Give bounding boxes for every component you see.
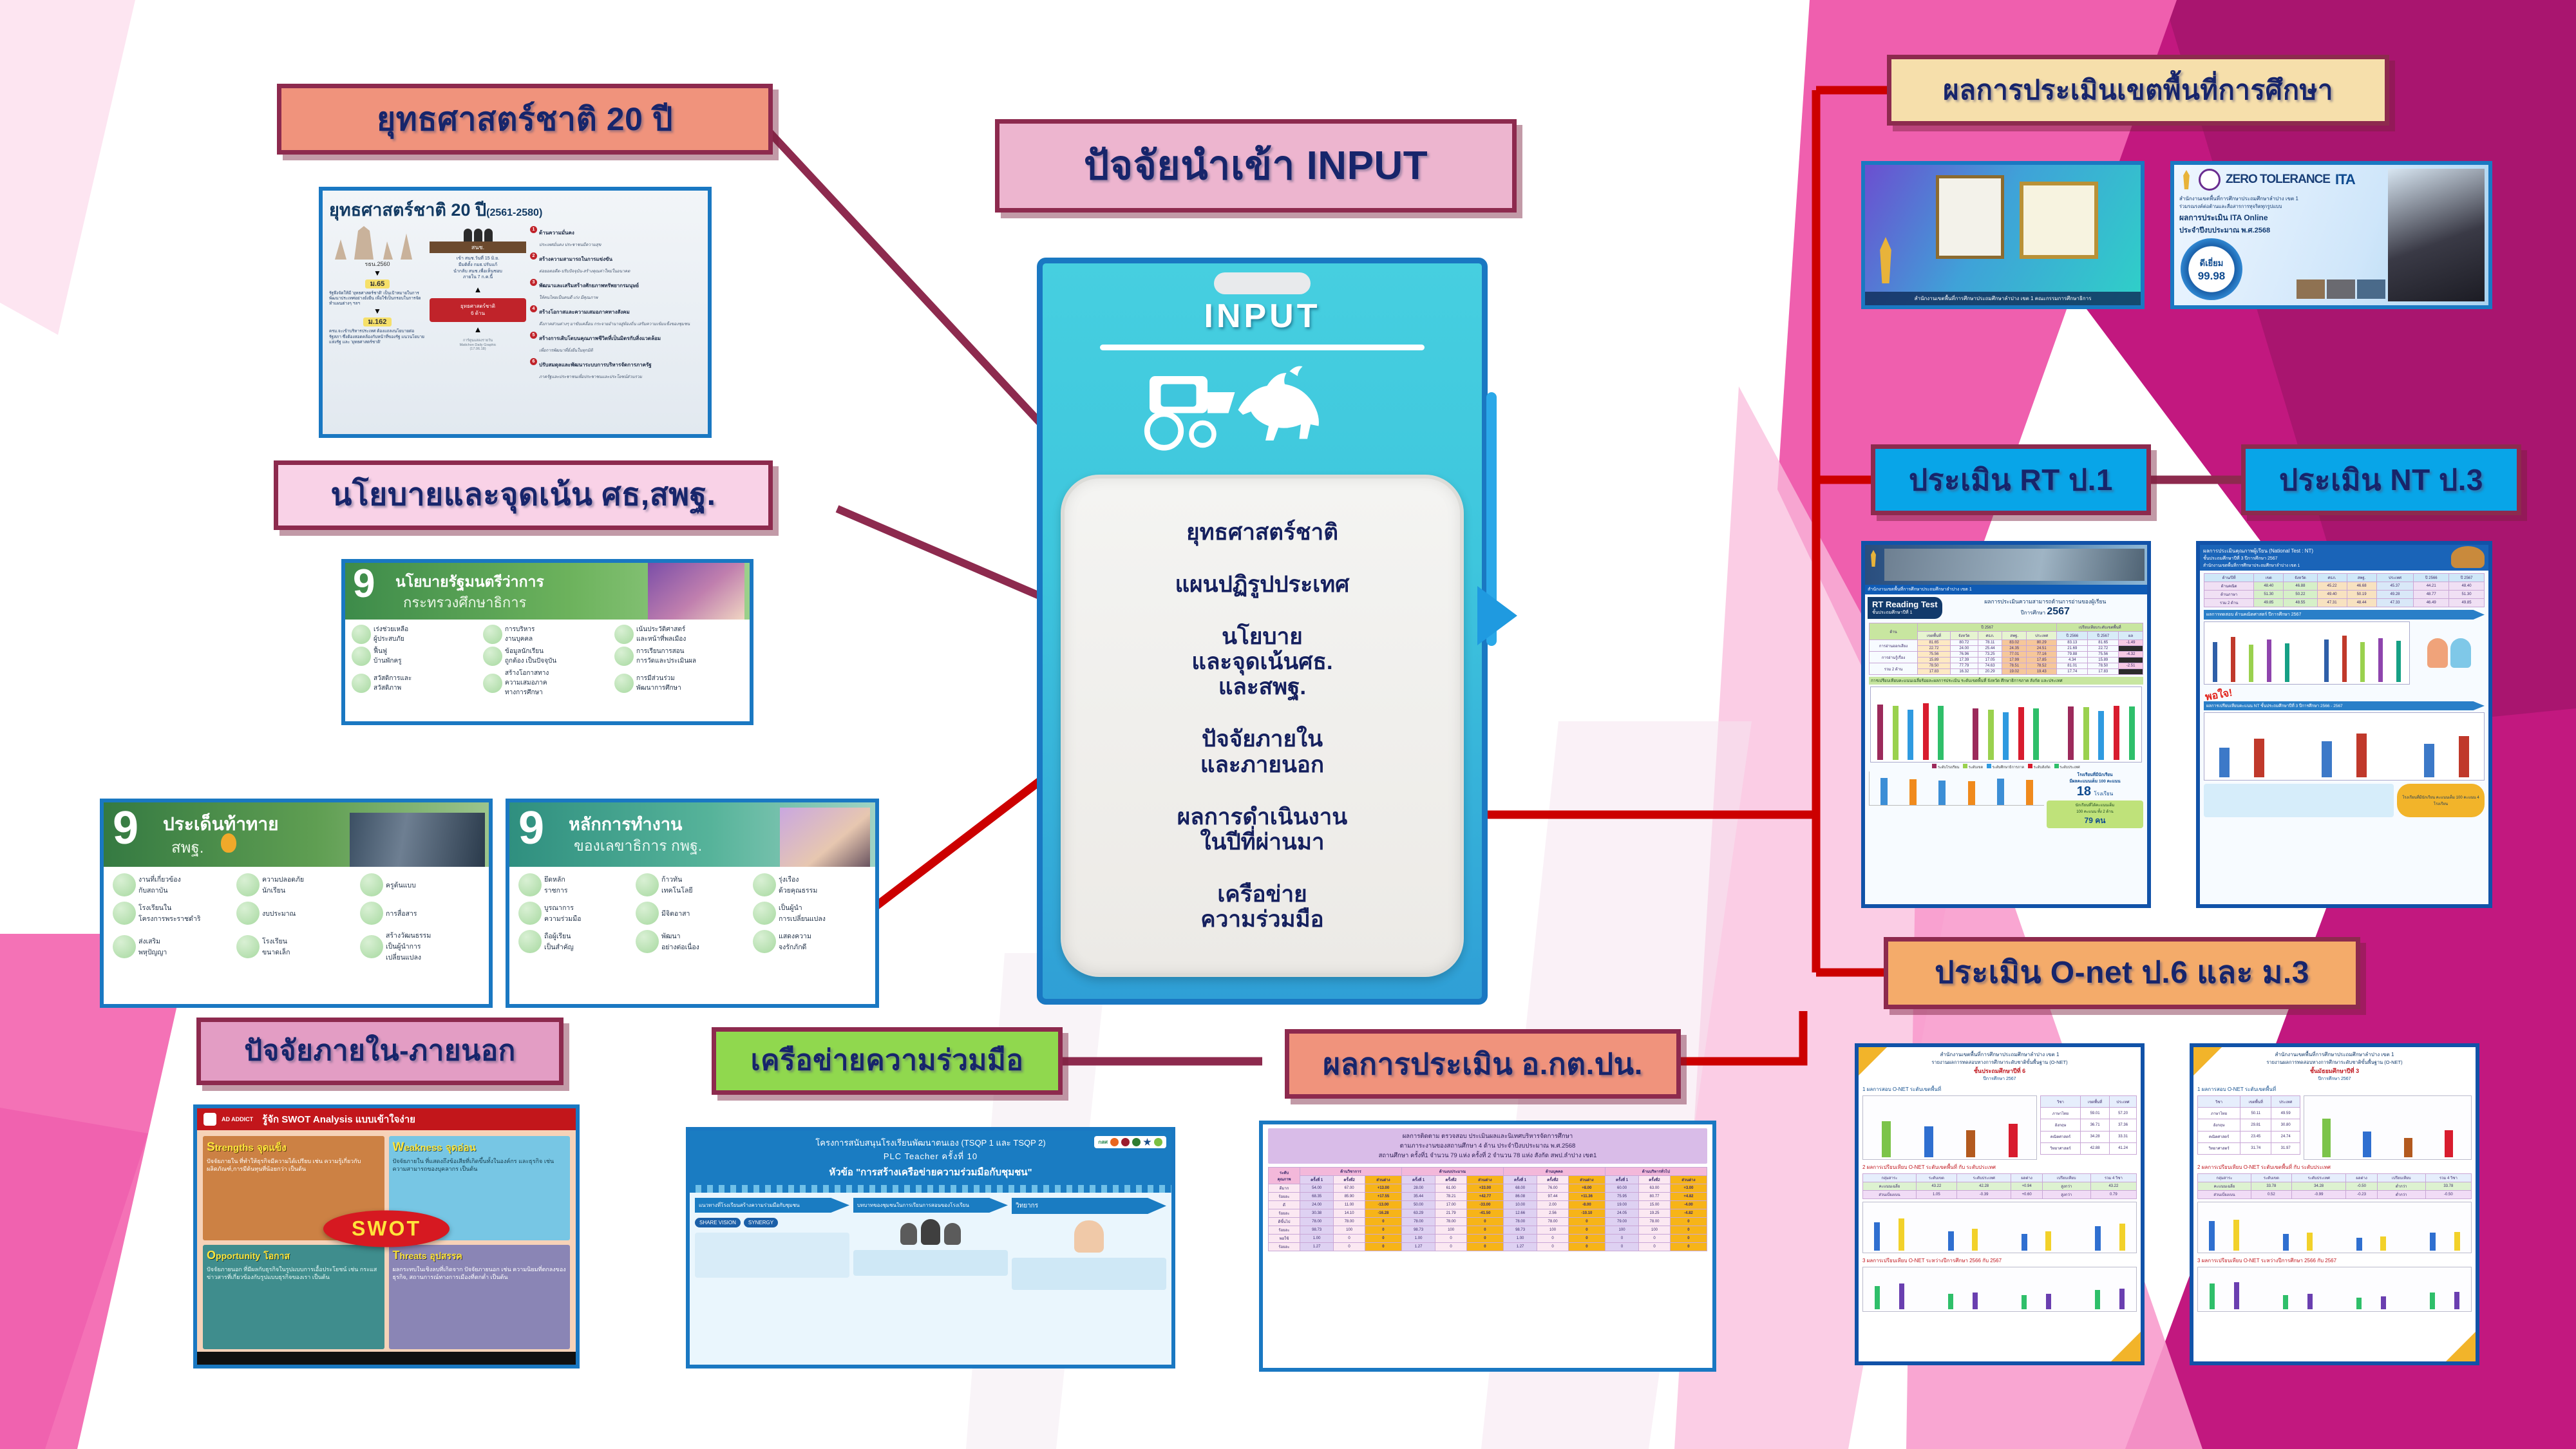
- label-cooperation-network[interactable]: เครือข่ายความร่วมมือ: [712, 1027, 1063, 1095]
- nt-band-1: ผลการทดสอบ ด้านคณิตศาสตร์ ปีการศึกษา 256…: [2204, 610, 2485, 620]
- horse-carriage-icon: [1043, 360, 1482, 457]
- table-row: อังกฤษ36.7137.36: [2041, 1119, 2137, 1131]
- tsqp-col3-head: วิทยากร: [1012, 1198, 1166, 1214]
- rt-year: 2567: [2047, 606, 2070, 617]
- label-nt-p3[interactable]: ประเมิน NT ป.3: [2241, 444, 2521, 515]
- label-national-strategy-text: ยุทธศาสตร์ชาติ 20 ปี: [377, 102, 673, 137]
- supervision-results-table: ระดับ คุณภาพ ด้านวิชาการ ด้านงบประมาณ ด้…: [1268, 1167, 1707, 1251]
- award-caption: สำนักงานเขตพื้นที่การศึกษาประถมศึกษาลำปา…: [1865, 292, 2141, 305]
- label-onet-text: ประเมิน O-net ป.6 และ ม.3: [1935, 957, 2309, 989]
- thumb-rt-report[interactable]: สำนักงานเขตพื้นที่การศึกษาประถมศึกษาลำปา…: [1861, 541, 2151, 908]
- ita-score-badge: ดีเยี่ยม 99.98: [2181, 238, 2242, 300]
- tsqp-logo-row: กสศ: [1094, 1136, 1166, 1148]
- ns-center-box: ยุทธศาสตร์ชาติ 6 ด้าน: [430, 298, 526, 322]
- table-row: พอใช้ 1.0000 1.0000 1.0000 000: [1269, 1235, 1707, 1243]
- table-row: ภาษาไทย50.1149.59: [2198, 1108, 2300, 1119]
- rt-score-table: ด้านปี 2567เปรียบเทียบระดับเขตพื้นที่ เข…: [1869, 623, 2143, 675]
- thumb-nine-challenges[interactable]: 9 ประเด็นท้าทาย สพฐ. งานที่เกี่ยวข้อง กั…: [100, 799, 493, 1008]
- rt-bar-chart: [1870, 687, 2142, 762]
- swot-brand: AD ADDICT: [222, 1117, 253, 1122]
- nt-office: สำนักงานเขตพื้นที่การศึกษาประถมศึกษาลำปา…: [2203, 562, 2485, 569]
- thumb-nine-policies[interactable]: 9 นโยบายรัฐมนตรีว่าการ กระทรวงศึกษาธิการ…: [341, 559, 753, 725]
- thumb-nt-report[interactable]: ผลการประเมินคุณภาพผู้เรียน (National Tes…: [2196, 541, 2492, 908]
- rt-callout2: นักเรียนที่ได้คะแนนเต็ม 100 คะแนน ทั้ง 2…: [2048, 802, 2142, 815]
- table-row: การอ่านรู้เรื่อง75.5676.9673.2577.0177.1…: [1870, 652, 2143, 658]
- director-photo: [2388, 169, 2485, 301]
- table-row: ร้อยละ 1.2700 1.2700 1.2700 000: [1269, 1243, 1707, 1251]
- tsqp-line2: PLC Teacher ครั้งที่ 10: [696, 1150, 1165, 1163]
- thumb-swot[interactable]: AD ADDICT รู้จัก SWOT Analysis แบบเข้าใจ…: [193, 1104, 580, 1368]
- tsqp-col2-head: บทบาทของชุมชนในการเรียนการสอนของโรงเรียน: [853, 1198, 1008, 1213]
- table-row: ด้านภาษา51.3050.2249.4050.1949.2848.7751…: [2204, 591, 2485, 599]
- secretary-photo: [780, 808, 870, 867]
- phone-screen-label: INPUT: [1043, 297, 1482, 336]
- npr-number: 9: [518, 806, 544, 850]
- thumb-onet-m3[interactable]: สำนักงานเขตพื้นที่การศึกษาประถมศึกษาลำปา…: [2190, 1043, 2479, 1365]
- label-rt-p1[interactable]: ประเมิน RT ป.1: [1871, 444, 2151, 515]
- garuda-emblem-icon: [1873, 237, 1899, 283]
- rt-callout2-number: 79 คน: [2085, 816, 2106, 825]
- table-row: ส่วนเบี่ยงเบน1.05-0.39+0.60สูงกว่า0.79: [1863, 1191, 2137, 1199]
- table-row: การอ่านออกเสียง81.6580.7278.1183.0280.29…: [1870, 640, 2143, 646]
- op6-year: ปีการศึกษา 2567: [1862, 1075, 2137, 1083]
- tsqp-col1-head: แนวทางที่โรงเรียนสร้างความร่วมมือกับชุมช…: [695, 1198, 849, 1213]
- label-onet[interactable]: ประเมิน O-net ป.6 และ ม.3: [1884, 937, 2360, 1009]
- tsqp-line3: หัวข้อ "การสร้างเครือข่ายความร่วมมือกับช…: [696, 1164, 1165, 1180]
- thumb-supervision-table[interactable]: ผลการติดตาม ตรวจสอบ ประเมินผลและนิเทศบริ…: [1259, 1121, 1716, 1372]
- label-policy-focus[interactable]: นโยบายและจุดเน้น ศธ,สพฐ.: [274, 460, 773, 530]
- om3-h3: ชั้นมัธยมศึกษาปีที่ 3: [2197, 1066, 2472, 1075]
- heading-input: ปัจจัยนำเข้า INPUT: [995, 119, 1517, 213]
- nt-title: ผลการประเมินคุณภาพผู้เรียน (National Tes…: [2203, 547, 2485, 555]
- thumb-tsqp-network[interactable]: โครงการสนับสนุนโรงเรียนพัฒนาตนเอง (TSQP …: [686, 1127, 1175, 1368]
- input-item-2[interactable]: นโยบาย และจุดเน้นศธ. และสพฐ.: [1191, 624, 1332, 700]
- nt-score-table: ด้าน/ปีที่เขตจังหวัดศธภ.สพฐ.ประเทศปี 256…: [2204, 573, 2485, 607]
- label-nt-p3-text: ประเมิน NT ป.3: [2279, 464, 2483, 495]
- nt-bar-chart-1: [2204, 621, 2410, 685]
- swot-quadrant-threats: Threats อุปสรรค ผลกระทบในเชิงลบที่เกิดจา…: [389, 1245, 571, 1349]
- op6-sec-1: 1 ผลการสอบ O-NET ระดับเขตพื้นที่: [1862, 1085, 2137, 1094]
- om3-sec-3: 3 ผลการเปรียบเทียบ O-NET ระหว่างปีการศึก…: [2197, 1256, 2472, 1265]
- thumb-ita-banner[interactable]: ZERO TOLERANCE ITA สำนักงานเขตพื้นที่การ…: [2170, 161, 2492, 309]
- op6-h3: ชั้นประถมศึกษาปีที่ 6: [1862, 1066, 2137, 1075]
- om3-chart-2: [2197, 1202, 2472, 1253]
- ns-credit: การ์ตูนแสดงรายวัน Matichon Daily Graphic…: [430, 338, 526, 351]
- table-row: คะแนนเฉลี่ย43.2242.28+0.94สูงกว่า43.22: [1863, 1182, 2137, 1191]
- label-area-assessment-text: ผลการประเมินเขตพื้นที่การศึกษา: [1943, 76, 2333, 104]
- op6-chart-2: [1862, 1202, 2137, 1253]
- om3-chart-3: [2197, 1267, 2472, 1312]
- input-item-3[interactable]: ปัจจัยภายใน และภายนอก: [1200, 726, 1324, 777]
- table-row: วิทยาศาสตร์31.7431.97: [2198, 1142, 2300, 1154]
- om3-h2: รายงานผลการทดสอบทางการศึกษาระดับชาติขั้น…: [2197, 1059, 2472, 1066]
- np-subtitle: กระทรวงศึกษาธิการ: [403, 591, 526, 614]
- ns-badge-1: ม.65: [365, 279, 390, 289]
- rt-badge-sub: ชั้นประถมศึกษาปีที่ 1: [1872, 609, 1938, 616]
- input-item-1[interactable]: แผนปฏิรูปประเทศ: [1175, 572, 1350, 597]
- rt-callout-number: 18: [2077, 784, 2091, 799]
- officials-photo: [350, 813, 485, 867]
- ns-date: รธน.2560: [329, 260, 426, 269]
- label-policy-focus-text: นโยบายและจุดเน้น ศธ,สพฐ.: [331, 479, 716, 511]
- kids-illustration: [2414, 621, 2485, 685]
- input-item-4[interactable]: ผลการดำเนินงาน ในปีที่ผ่านมา: [1177, 804, 1347, 855]
- swot-center-badge: SWOT: [323, 1211, 450, 1247]
- table-row: ร้อยละ 30.3814.10-16.28 63.2921.79-41.50…: [1269, 1209, 1707, 1218]
- table-row: ด้านคณิต48.4046.8845.2246.6845.3744.2148…: [2204, 582, 2485, 591]
- input-item-5[interactable]: เครือข่าย ความร่วมมือ: [1200, 882, 1323, 932]
- rt-legend: ระดับโรงเรียน ระดับเขต ระดับศึกษาธิการภา…: [1865, 764, 2147, 770]
- garuda-emblem-icon: [2179, 170, 2193, 189]
- npr-subtitle: ของเลขาธิการ กพฐ.: [574, 835, 702, 858]
- table-row: ร้อยละ 68.3585.90+17.55 35.4478.21+42.77…: [1269, 1193, 1707, 1201]
- rt-header: สำนักงานเขตพื้นที่การศึกษาประถมศึกษาลำปา…: [1865, 585, 2147, 594]
- label-akatapon-result-text: ผลการประเมิน อ.กต.ปน.: [1323, 1048, 1643, 1079]
- np-title: นโยบายรัฐมนตรีว่าการ: [395, 571, 544, 594]
- rt-title: ผลการประเมินความสามารถด้านการอ่านของผู้เ…: [1946, 597, 2145, 606]
- temple-icon: [329, 226, 426, 260]
- thumb-award-photos[interactable]: สำนักงานเขตพื้นที่การศึกษาประถมศึกษาลำปา…: [1861, 161, 2145, 309]
- table-row: ดีมาก 54.0067.00+13.00 28.0061.00+33.00 …: [1269, 1184, 1707, 1193]
- om3-sec-2: 2 ผลการเปรียบเทียบ O-NET ระดับเขตพื้นที่…: [2197, 1163, 2472, 1171]
- label-rt-p1-text: ประเมิน RT ป.1: [1909, 464, 2113, 495]
- heading-input-text: ปัจจัยนำเข้า INPUT: [1084, 145, 1428, 187]
- nt-band-2: ผลการเปรียบเทียบคะแนน NT ชั้นประถมศึกษาป…: [2204, 701, 2485, 710]
- ns-senate-note: เข้า สนช.วันที่ 15 มิ.ย. มีมติตั้ง กมธ.ป…: [430, 256, 526, 281]
- op6-chart-3: [1862, 1267, 2137, 1312]
- label-internal-external-text: ปัจจัยภายใน-ภายนอก: [244, 1036, 516, 1066]
- ns-badge-2: ม.162: [363, 317, 392, 327]
- table-row: คณิตศาสตร์34.2833.31: [2041, 1131, 2137, 1142]
- speaker-photo: [648, 563, 744, 620]
- npr-title: หลักการทำงาน: [569, 810, 682, 838]
- student-illustration: [2451, 546, 2485, 568]
- om3-h1: สำนักงานเขตพื้นที่การศึกษาประถมศึกษาลำปา…: [2197, 1050, 2472, 1059]
- thumb-national-strategy[interactable]: ยุทธศาสตร์ชาติ 20 ปี(2561-2580) รธน.2560…: [319, 187, 712, 438]
- table-row: ส่วนเบี่ยงเบน0.52-0.99-0.23ต่ำกว่า-0.50: [2198, 1191, 2472, 1199]
- table-row: อังกฤษ29.8130.80: [2198, 1119, 2300, 1131]
- input-items-card: ยุทธศาสตร์ชาติ แผนปฏิรูปประเทศ นโยบาย แล…: [1061, 475, 1464, 977]
- play-arrow-icon[interactable]: [1477, 586, 1517, 645]
- input-phone-mockup[interactable]: INPUT ยุทธศาสตร์ชาติ แผนปฏิรูปประเทศ นโย…: [1037, 258, 1488, 1005]
- garuda-emblem-icon: [1868, 550, 1879, 567]
- table-row: ร้อยละ 98.731000 98.731000 98.731000 100…: [1269, 1226, 1707, 1235]
- table-row: รวม 2 ด้าน78.5077.7974.6378.5178.5281.01…: [1870, 663, 2143, 669]
- table-row: ดีขึ้นไป 78.0078.000 78.0078.000 78.0078…: [1269, 1218, 1707, 1226]
- ns-senate: สนช.: [430, 241, 526, 253]
- ns-pillar-list: 1ด้านความมั่นคงประเทศมั่นคง ประชาชนมีควา…: [530, 226, 701, 381]
- thumb-nine-principles[interactable]: 9 หลักการทำงาน ของเลขาธิการ กพฐ. ยึดหลัก…: [506, 799, 879, 1008]
- tbl-title-3: สถานศึกษา ครั้งที่1 จำนวน 79 แห่ง ครั้งท…: [1271, 1151, 1705, 1160]
- ns-note-1: รัฐพึงจัดให้มี 'ยุทธศาสตร์ชาติ' เป็นเป้า…: [329, 291, 426, 307]
- ns-title: ยุทธศาสตร์ชาติ 20 ปี(2561-2580): [329, 196, 701, 223]
- op6-h1: สำนักงานเขตพื้นที่การศึกษาประถมศึกษาลำปา…: [1862, 1050, 2137, 1059]
- table-row: ดี 24.0011.00-13.00 50.0017.00-33.00 10.…: [1269, 1201, 1707, 1209]
- label-national-strategy[interactable]: ยุทธศาสตร์ชาติ 20 ปี: [277, 84, 773, 155]
- nc-subtitle: สพฐ.: [171, 835, 204, 860]
- rt-badge: RT Reading Test: [1872, 600, 1938, 609]
- label-internal-external[interactable]: ปัจจัยภายใน-ภายนอก: [196, 1018, 563, 1085]
- tbl-title-2: ตามภาระงานของสถานศึกษา 4 ด้าน ประจำปีงบป…: [1271, 1141, 1705, 1151]
- op6-sec-2: 2 ผลการเปรียบเทียบ O-NET ระดับเขตพื้นที่…: [1862, 1163, 2137, 1171]
- nt-bar-chart-2: [2204, 712, 2485, 781]
- nc-number: 9: [113, 806, 138, 850]
- table-row: ภาษาไทย59.0157.20: [2041, 1108, 2137, 1119]
- label-cooperation-network-text: เครือข่ายความร่วมมือ: [751, 1046, 1024, 1075]
- label-area-assessment[interactable]: ผลการประเมินเขตพื้นที่การศึกษา: [1887, 55, 2389, 126]
- zero-tolerance-icon: [2199, 169, 2221, 191]
- om3-sec-1: 1 ผลการสอบ O-NET ระดับเขตพื้นที่: [2197, 1085, 2472, 1094]
- ns-note-2: ครม.จะเข้าบริหารประเทศ ต้องแถลงนโยบายต่อ…: [329, 329, 426, 345]
- op6-sec-3: 3 ผลการเปรียบเทียบ O-NET ระหว่างปีการศึก…: [1862, 1256, 2137, 1265]
- rt-callout-title: โรงเรียนที่มีนักเรียน มีผลคะแนนเต็ม 100 …: [2047, 772, 2143, 784]
- phone-notch: [1214, 272, 1311, 294]
- swot-header: รู้จัก SWOT Analysis แบบเข้าใจง่าย: [262, 1112, 415, 1127]
- swot-quadrant-opportunity: Opportunity โอกาส ปัจจัยภายนอก ที่มีผลกั…: [203, 1245, 384, 1349]
- nt-subtitle: ชั้นประถมศึกษาปีที่ 3 ปีการศึกษา 2567: [2203, 555, 2485, 562]
- table-row: คณิตศาสตร์23.4524.74: [2198, 1131, 2300, 1142]
- np-number: 9: [353, 565, 375, 603]
- op6-h2: รายงานผลการทดสอบทางการศึกษาระดับชาติขั้น…: [1862, 1059, 2137, 1066]
- table-row: คะแนนเฉลี่ย33.7834.28-0.50ต่ำกว่า33.78: [2198, 1182, 2472, 1191]
- table-row: วิทยาศาสตร์42.8841.24: [2041, 1142, 2137, 1154]
- table-row: รวม 2 ด้าน49.8548.5547.3148.4447.3346.49…: [2204, 599, 2485, 607]
- garuda-icon: [221, 833, 236, 853]
- tbl-title-1: ผลการติดตาม ตรวจสอบ ประเมินผลและนิเทศบริ…: [1271, 1132, 1705, 1141]
- thumb-onet-p6[interactable]: สำนักงานเขตพื้นที่การศึกษาประถมศึกษาลำปา…: [1855, 1043, 2145, 1365]
- input-item-0[interactable]: ยุทธศาสตร์ชาติ: [1186, 520, 1338, 545]
- ad-addict-logo-icon: [204, 1113, 216, 1126]
- phone-divider: [1100, 345, 1425, 350]
- label-akatapon-result[interactable]: ผลการประเมิน อ.กต.ปน.: [1285, 1029, 1681, 1099]
- om3-year: ปีการศึกษา 2567: [2197, 1075, 2472, 1083]
